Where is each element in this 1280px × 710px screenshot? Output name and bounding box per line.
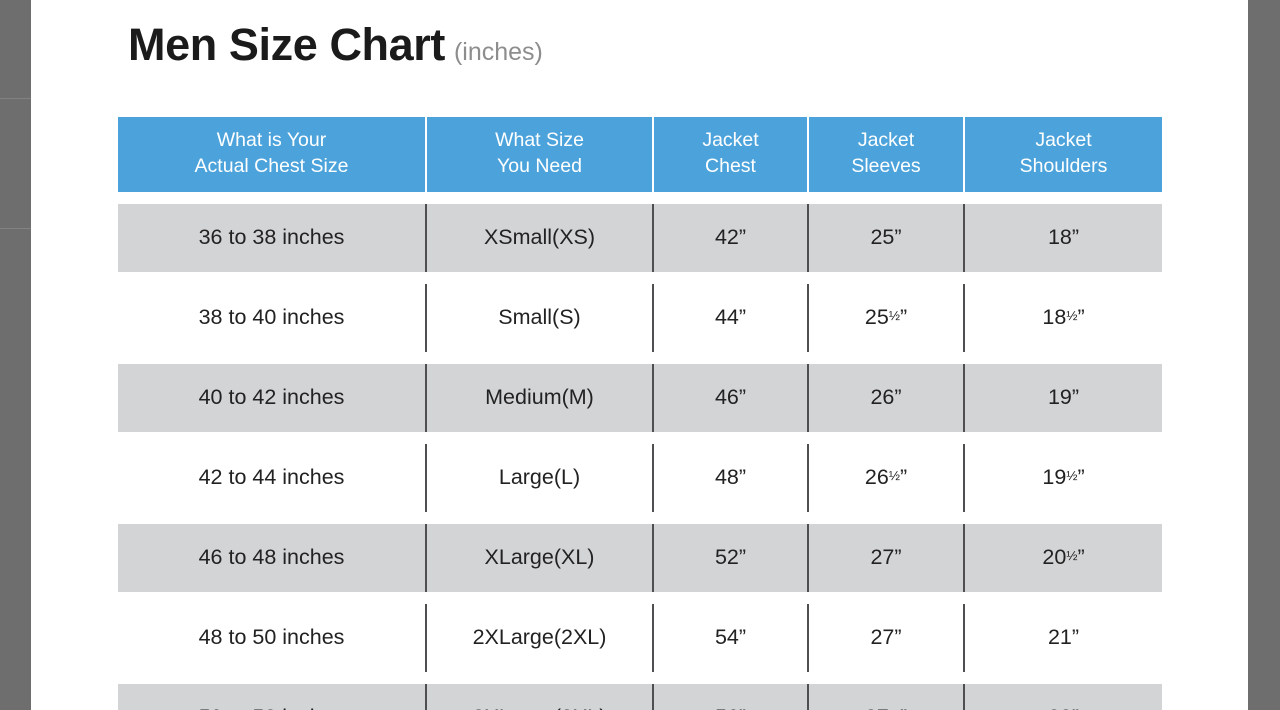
table-row: 36 to 38 inchesXSmall(XS)42”25”18”	[118, 204, 1162, 272]
cell-jacket-shoulders: 18”	[963, 204, 1162, 272]
cell-jacket-chest: 44”	[652, 284, 807, 352]
cell-actual-chest-size: 40 to 42 inches	[118, 364, 425, 432]
column-header-line1: Jacket	[1035, 129, 1091, 151]
column-header-jacket-sleeves: Jacket Sleeves	[807, 117, 963, 192]
page-title-units: (inches)	[454, 40, 543, 65]
letterbox-band-left	[0, 0, 31, 710]
cell-jacket-sleeves: 27½”	[807, 684, 963, 710]
column-header-actual-chest-size: What is Your Actual Chest Size	[118, 117, 425, 192]
column-header-line1: What is Your	[217, 129, 326, 151]
cell-size-needed: XSmall(XS)	[425, 204, 652, 272]
cell-jacket-chest: 48”	[652, 444, 807, 512]
cell-size-needed: XLarge(XL)	[425, 524, 652, 592]
cell-jacket-chest: 52”	[652, 524, 807, 592]
column-header-line1: Jacket	[702, 129, 758, 151]
cell-size-needed: Medium(M)	[425, 364, 652, 432]
cell-jacket-sleeves: 27”	[807, 524, 963, 592]
cell-size-needed: Large(L)	[425, 444, 652, 512]
cell-jacket-shoulders: 20½”	[963, 524, 1162, 592]
table-row: 38 to 40 inchesSmall(S)44”25½”18½”	[118, 284, 1162, 352]
table-row: 48 to 50 inches2XLarge(2XL)54”27”21”	[118, 604, 1162, 672]
screen: Men Size Chart (inches) What is Your Act…	[0, 0, 1280, 710]
column-header-jacket-chest: Jacket Chest	[652, 117, 807, 192]
column-header-line2: Shoulders	[971, 154, 1156, 180]
cell-jacket-sleeves: 25½”	[807, 284, 963, 352]
cell-jacket-chest: 46”	[652, 364, 807, 432]
table-row: 40 to 42 inchesMedium(M)46”26”19”	[118, 364, 1162, 432]
cell-jacket-chest: 56”	[652, 684, 807, 710]
cell-actual-chest-size: 36 to 38 inches	[118, 204, 425, 272]
column-header-line2: Actual Chest Size	[124, 154, 419, 180]
band-seam	[0, 98, 31, 99]
cell-jacket-shoulders: 19½”	[963, 444, 1162, 512]
table-header-row: What is Your Actual Chest Size What Size…	[118, 117, 1162, 192]
cell-actual-chest-size: 50 to 52 inches	[118, 684, 425, 710]
cell-actual-chest-size: 46 to 48 inches	[118, 524, 425, 592]
column-header-line2: You Need	[433, 154, 646, 180]
column-header-line2: Chest	[660, 154, 801, 180]
cell-actual-chest-size: 48 to 50 inches	[118, 604, 425, 672]
table-row: 50 to 52 inches3XLarge(3XL)56”27½”22”	[118, 684, 1162, 710]
cell-size-needed: Small(S)	[425, 284, 652, 352]
column-header-line1: Jacket	[858, 129, 914, 151]
cell-jacket-sleeves: 27”	[807, 604, 963, 672]
cell-jacket-sleeves: 25”	[807, 204, 963, 272]
cell-actual-chest-size: 42 to 44 inches	[118, 444, 425, 512]
page-title-main: Men Size Chart	[128, 22, 445, 67]
column-header-line1: What Size	[495, 129, 584, 151]
cell-jacket-sleeves: 26½”	[807, 444, 963, 512]
letterbox-band-right	[1248, 0, 1280, 710]
table-body: 36 to 38 inchesXSmall(XS)42”25”18”38 to …	[118, 204, 1162, 710]
page-title: Men Size Chart (inches)	[128, 22, 543, 67]
cell-jacket-shoulders: 18½”	[963, 284, 1162, 352]
band-seam	[0, 228, 31, 229]
column-header-jacket-shoulders: Jacket Shoulders	[963, 117, 1162, 192]
cell-jacket-sleeves: 26”	[807, 364, 963, 432]
size-chart-table: What is Your Actual Chest Size What Size…	[118, 105, 1162, 710]
cell-jacket-shoulders: 22”	[963, 684, 1162, 710]
table-row: 46 to 48 inchesXLarge(XL)52”27”20½”	[118, 524, 1162, 592]
column-header-line2: Sleeves	[815, 154, 957, 180]
cell-size-needed: 3XLarge(3XL)	[425, 684, 652, 710]
cell-jacket-chest: 54”	[652, 604, 807, 672]
cell-size-needed: 2XLarge(2XL)	[425, 604, 652, 672]
cell-actual-chest-size: 38 to 40 inches	[118, 284, 425, 352]
cell-jacket-shoulders: 19”	[963, 364, 1162, 432]
table-row: 42 to 44 inchesLarge(L)48”26½”19½”	[118, 444, 1162, 512]
cell-jacket-shoulders: 21”	[963, 604, 1162, 672]
table-header: What is Your Actual Chest Size What Size…	[118, 117, 1162, 192]
cell-jacket-chest: 42”	[652, 204, 807, 272]
column-header-size-needed: What Size You Need	[425, 117, 652, 192]
slide-canvas: Men Size Chart (inches) What is Your Act…	[31, 0, 1248, 710]
